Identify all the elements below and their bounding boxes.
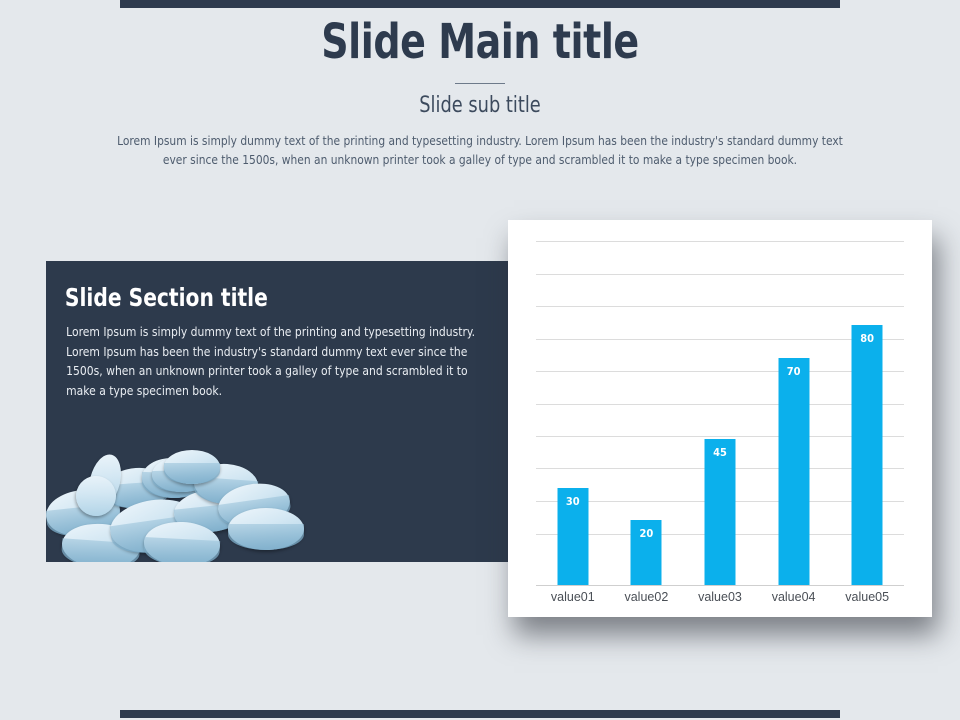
section-panel: Slide Section title Lorem Ipsum is simpl… [46,261,508,562]
page-title: Slide Main title [58,8,903,70]
chart-category-label: value05 [830,590,904,604]
chart-category-label: value04 [757,590,831,604]
chart-bar-value-label: 45 [704,446,735,459]
slide-header: Slide Main title Slide sub title Lorem I… [0,8,960,169]
pill-shape [228,508,304,550]
blue-pills-image [46,446,386,562]
chart-bar-value-label: 70 [778,365,809,378]
chart-gridline [536,241,904,242]
chart-bar[interactable]: 30 [557,488,588,586]
chart-bars: 3020457080 [536,260,904,585]
chart-category-labels: value01value02value03value04value05 [536,590,904,610]
chart-bar-value-label: 30 [557,495,588,508]
page-subtitle: Slide sub title [48,93,912,119]
section-title: Slide Section title [46,261,462,313]
chart-plot-area: 3020457080 [536,241,904,586]
top-accent-rule [120,0,840,8]
chart-bar-slot: 45 [683,260,757,585]
chart-bar[interactable]: 70 [778,358,809,586]
chart-bar[interactable]: 45 [704,439,735,585]
chart-category-label: value01 [536,590,610,604]
header-paragraph: Lorem Ipsum is simply dummy text of the … [105,131,856,169]
chart-bar-slot: 30 [536,260,610,585]
chart-bar[interactable]: 80 [852,325,883,585]
chart-baseline [536,585,904,586]
chart-bar-slot: 70 [757,260,831,585]
chart-category-label: value03 [683,590,757,604]
section-paragraph: Lorem Ipsum is simply dummy text of the … [46,313,479,400]
chart-bar-value-label: 80 [852,332,883,345]
title-divider [455,83,505,84]
bottom-accent-rule [120,710,840,718]
pill-shape [164,450,220,484]
chart-bar[interactable]: 20 [631,520,662,585]
chart-bar-slot: 20 [610,260,684,585]
chart-bar-value-label: 20 [631,527,662,540]
chart-bar-slot: 80 [830,260,904,585]
chart-category-label: value02 [610,590,684,604]
chart-card: 3020457080 value01value02value03value04v… [508,220,932,617]
slide-canvas: Slide Main title Slide sub title Lorem I… [0,0,960,720]
